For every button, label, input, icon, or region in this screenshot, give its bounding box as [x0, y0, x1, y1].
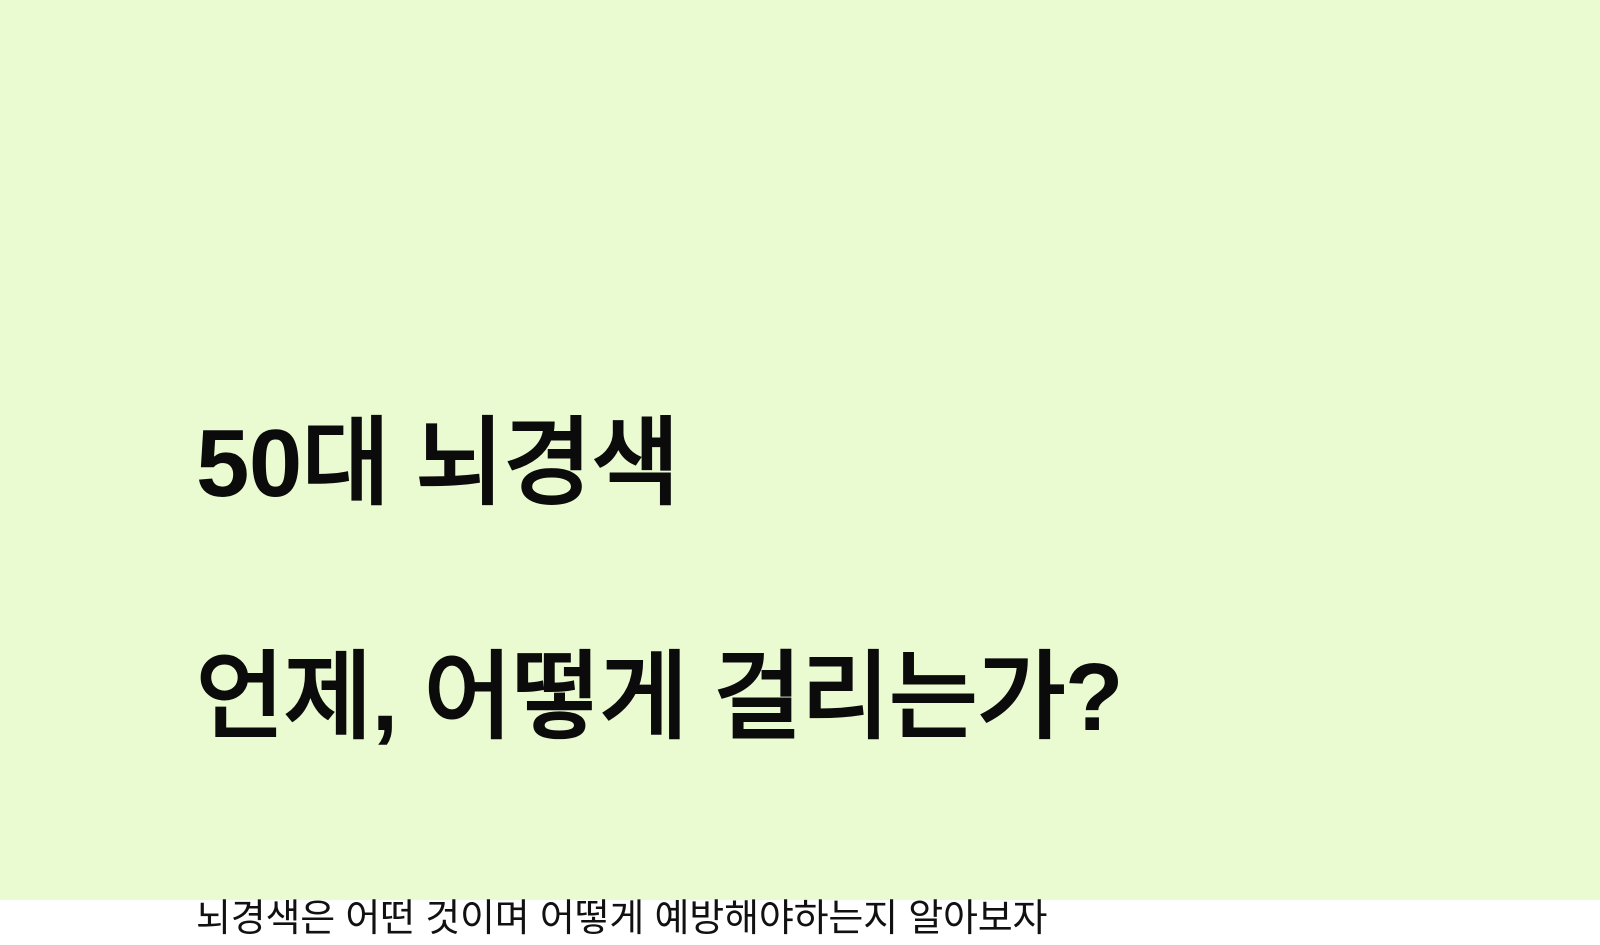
- page-subtitle: 뇌경색은 어떤 것이며 어떻게 예방해야하는지 알아보자: [196, 894, 1436, 945]
- title-card: 50대 뇌경색 언제, 어떻게 걸리는가? 뇌경색은 어떤 것이며 어떻게 예방…: [0, 0, 1600, 900]
- text-block: 50대 뇌경색 언제, 어떻게 걸리는가? 뇌경색은 어떤 것이며 어떻게 예방…: [196, 288, 1436, 945]
- page-title: 50대 뇌경색 언제, 어떻게 걸리는가?: [196, 288, 1436, 874]
- headline-line-2: 언제, 어떻게 걸리는가?: [196, 639, 1436, 756]
- headline-line-1: 50대 뇌경색: [196, 405, 1436, 522]
